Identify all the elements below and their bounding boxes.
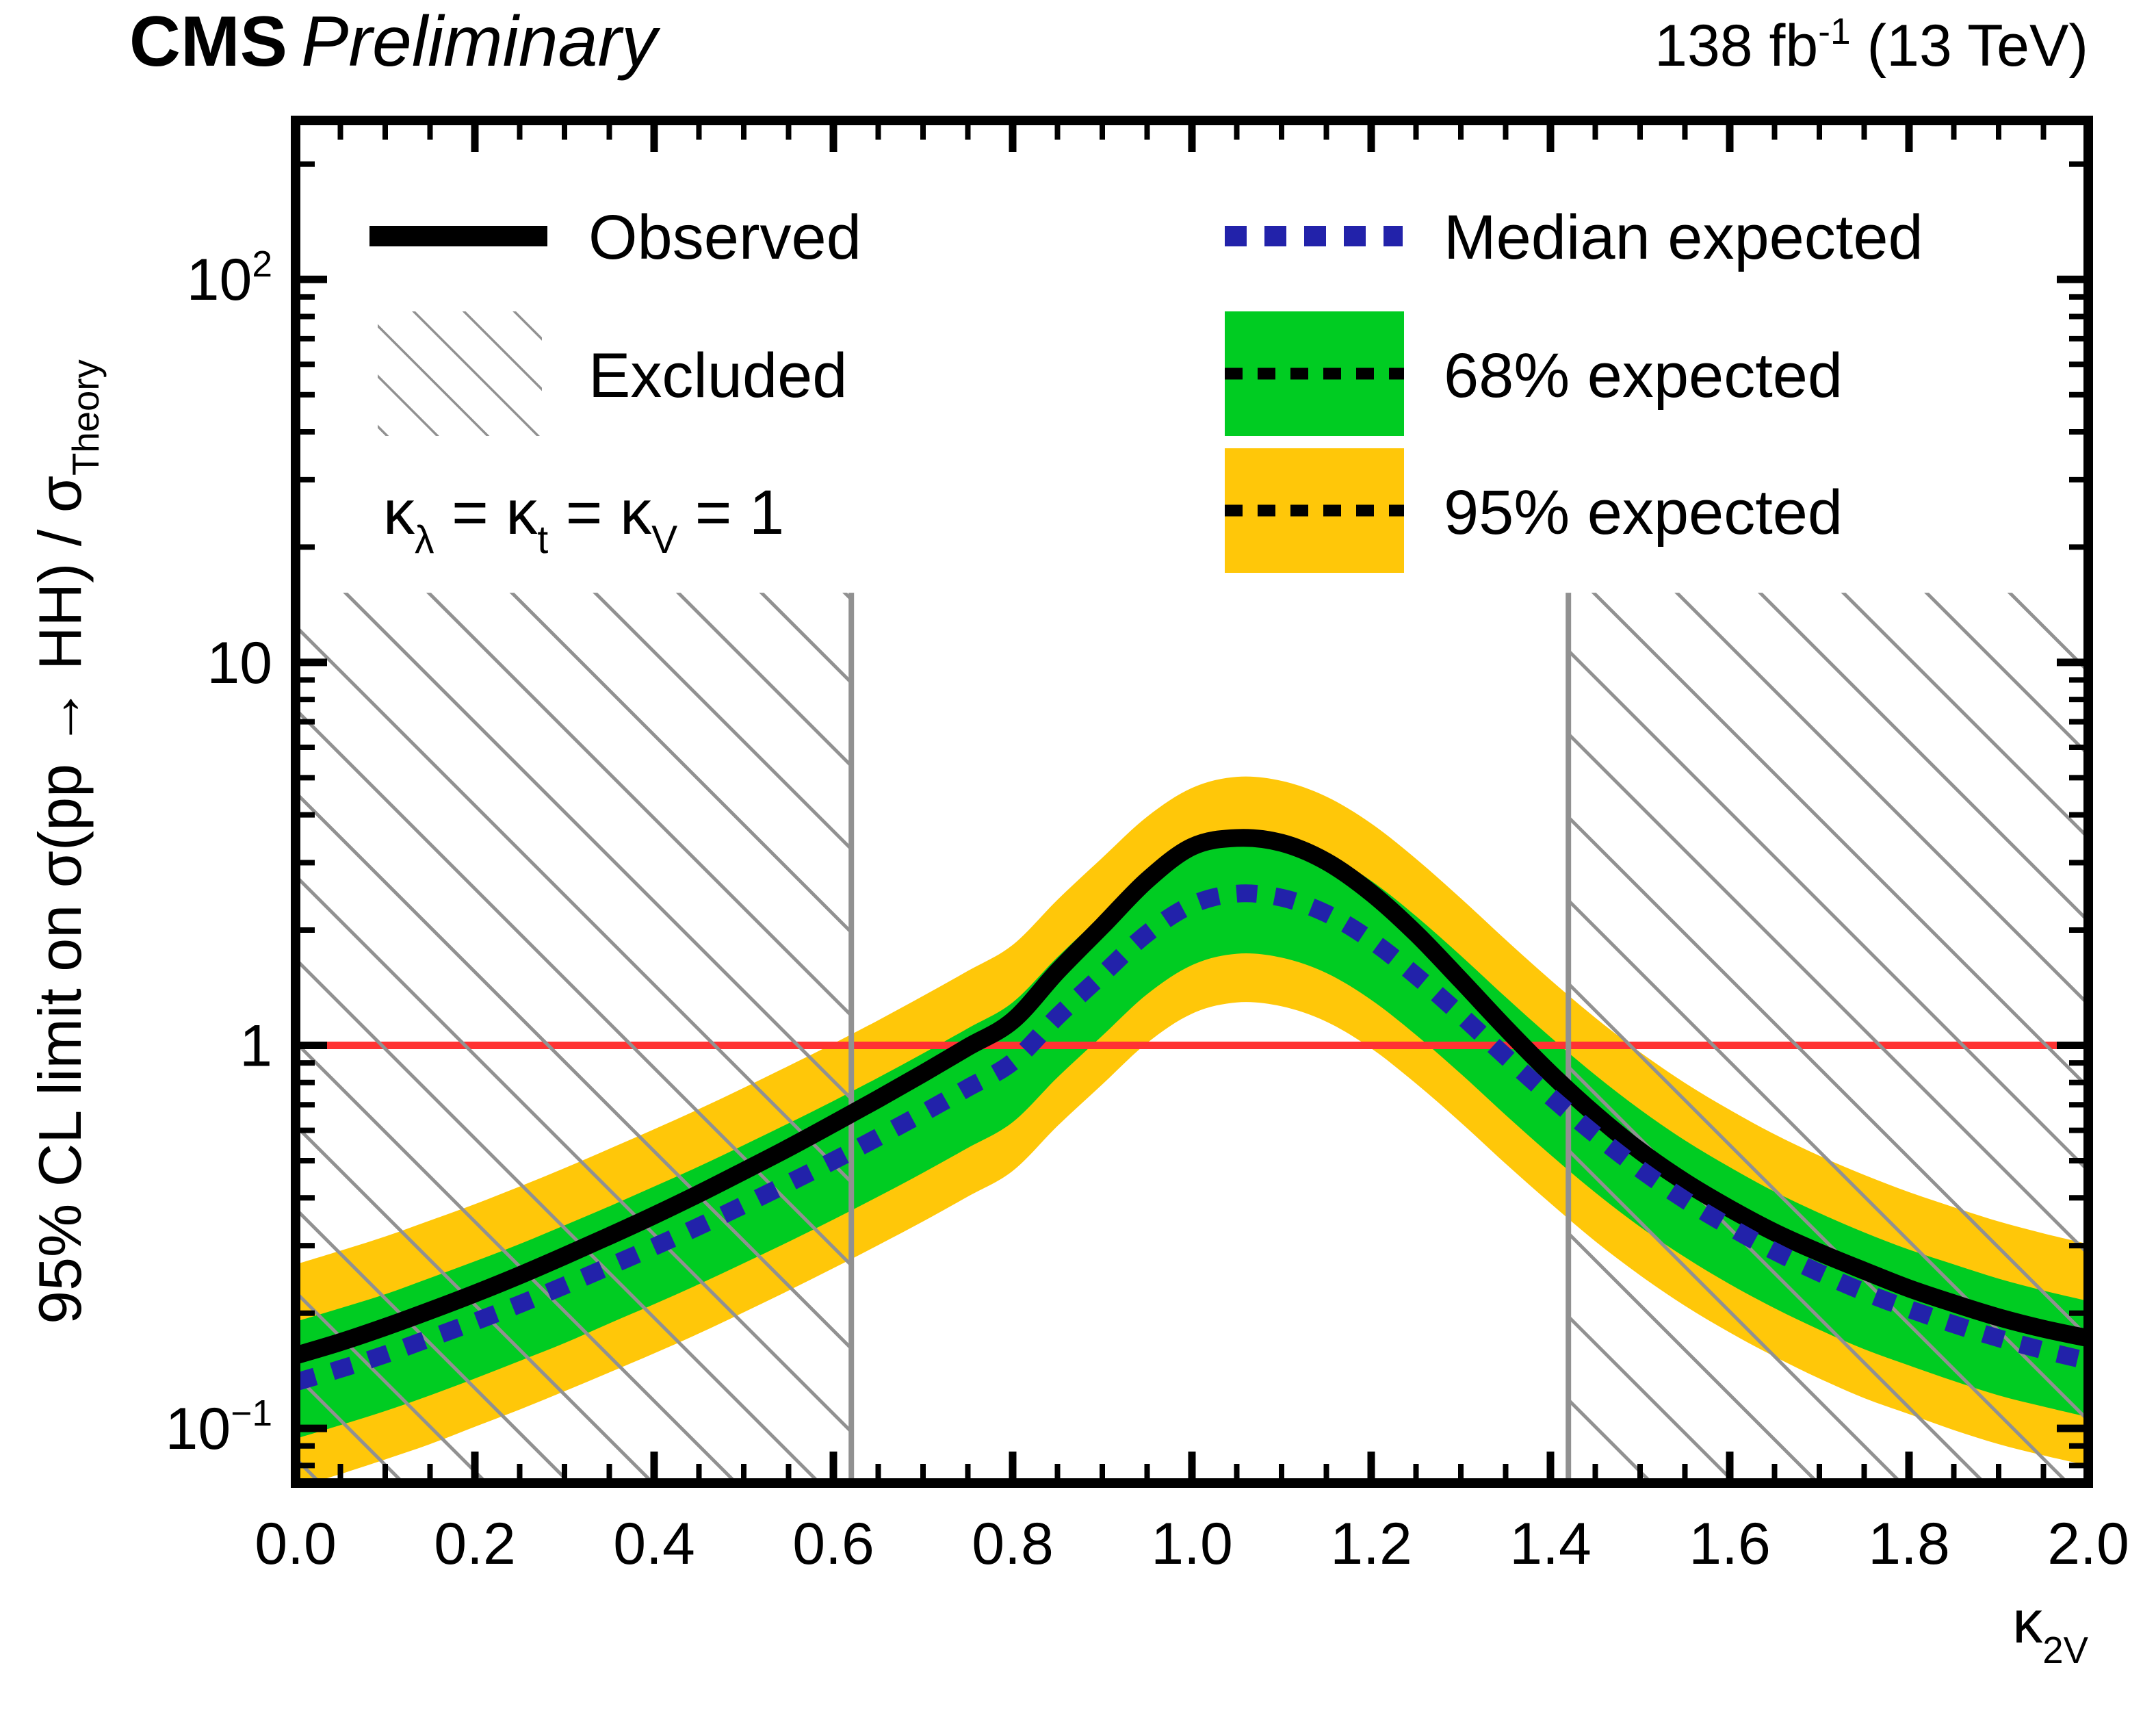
- y-tick-label: 1: [239, 1014, 272, 1079]
- x-tick-label: 0.4: [613, 1511, 695, 1577]
- kappa-t-symbol: κ: [506, 478, 538, 548]
- x-tick-label: 0.6: [792, 1511, 874, 1577]
- legend-label-95-expected: 95% expected: [1444, 478, 1843, 548]
- x-tick-label: 1.4: [1509, 1511, 1592, 1577]
- legend-label-68-expected: 68% expected: [1444, 341, 1843, 411]
- chart-root: CMS Preliminary 138 fb-1 (13 TeV) 0.00.2…: [0, 0, 2156, 1726]
- x-tick-label: 1.6: [1689, 1511, 1771, 1577]
- kappa-eq3: = 1: [677, 478, 784, 548]
- legend-label-excluded: Excluded: [588, 341, 847, 411]
- excluded-swatch-icon: [378, 311, 542, 436]
- x-title-subscript: 2V: [2042, 1630, 2088, 1671]
- lumi-exponent: -1: [1818, 12, 1850, 52]
- y-title-sigma2: σ: [26, 476, 94, 513]
- kappa-lambda-sub: λ: [415, 518, 434, 562]
- y-tick-label: 10: [207, 630, 272, 696]
- kappa-eq2: =: [548, 478, 620, 548]
- kappa-eq1: =: [434, 478, 506, 548]
- x-tick-label: 0.0: [255, 1511, 337, 1577]
- legend-label-observed: Observed: [588, 203, 861, 272]
- band95-swatch-icon: [1225, 448, 1404, 573]
- y-title-hh: HH) /: [26, 513, 94, 686]
- header-lumi: 138 fb-1 (13 TeV): [1654, 12, 2088, 79]
- band68-swatch-icon: [1225, 311, 1404, 436]
- cms-label: CMS: [129, 2, 287, 81]
- lumi-value: 138 fb: [1654, 13, 1818, 79]
- kappa-V-sub: V: [651, 518, 677, 562]
- kappa-t-sub: t: [537, 518, 548, 562]
- legend-label-median-expected: Median expected: [1444, 203, 1923, 272]
- x-tick-label: 1.8: [1868, 1511, 1950, 1577]
- y-title-sigma: σ: [26, 851, 94, 888]
- header-cms-preliminary: CMS Preliminary: [129, 2, 661, 81]
- x-tick-label: 2.0: [2047, 1511, 2129, 1577]
- preliminary-label: Preliminary: [301, 2, 661, 81]
- y-title-arrow-icon: →: [26, 686, 94, 747]
- x-tick-label: 1.2: [1330, 1511, 1412, 1577]
- lumi-energy: (13 TeV): [1851, 13, 2088, 79]
- x-tick-label: 1.0: [1151, 1511, 1233, 1577]
- x-tick-label: 0.2: [434, 1511, 516, 1577]
- y-title-prefix: 95% CL limit on: [26, 888, 94, 1324]
- y-title-subscript: Theory: [65, 359, 107, 475]
- lumi-text: 138 fb-1 (13 TeV): [1654, 12, 2088, 79]
- y-title-pp: (pp: [26, 747, 94, 851]
- kappa-lambda-symbol: κ: [383, 478, 415, 548]
- x-tick-label: 0.8: [972, 1511, 1054, 1577]
- kappa-V-symbol: κ: [620, 478, 652, 548]
- limit-plot-svg: CMS Preliminary 138 fb-1 (13 TeV) 0.00.2…: [0, 0, 2156, 1726]
- x-title-kappa: κ: [2012, 1588, 2043, 1656]
